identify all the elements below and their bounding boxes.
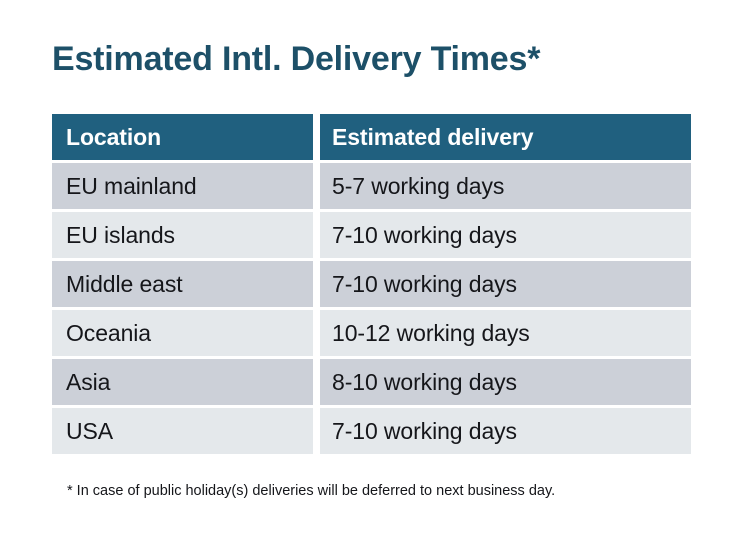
footnote-text: * In case of public holiday(s) deliverie… — [67, 481, 555, 501]
table-row: Asia 8-10 working days — [52, 359, 691, 405]
page-title: Estimated Intl. Delivery Times* — [52, 38, 540, 80]
cell-estimated-delivery: 7-10 working days — [320, 261, 691, 307]
cell-location: Oceania — [52, 310, 313, 356]
cell-location: Asia — [52, 359, 313, 405]
table-row: USA 7-10 working days — [52, 408, 691, 454]
table-row: EU islands 7-10 working days — [52, 212, 691, 258]
cell-estimated-delivery: 7-10 working days — [320, 408, 691, 454]
cell-location: Middle east — [52, 261, 313, 307]
cell-location: EU islands — [52, 212, 313, 258]
cell-estimated-delivery: 7-10 working days — [320, 212, 691, 258]
column-header-estimated-delivery: Estimated delivery — [320, 114, 691, 160]
cell-estimated-delivery: 10-12 working days — [320, 310, 691, 356]
delivery-times-page: Estimated Intl. Delivery Times* Location… — [0, 0, 745, 536]
cell-location: USA — [52, 408, 313, 454]
table-row: EU mainland 5-7 working days — [52, 163, 691, 209]
cell-location: EU mainland — [52, 163, 313, 209]
column-header-location: Location — [52, 114, 313, 160]
cell-estimated-delivery: 5-7 working days — [320, 163, 691, 209]
cell-estimated-delivery: 8-10 working days — [320, 359, 691, 405]
delivery-times-table: Location Estimated delivery EU mainland … — [52, 114, 691, 457]
table-row: Oceania 10-12 working days — [52, 310, 691, 356]
table-header-row: Location Estimated delivery — [52, 114, 691, 160]
table-row: Middle east 7-10 working days — [52, 261, 691, 307]
